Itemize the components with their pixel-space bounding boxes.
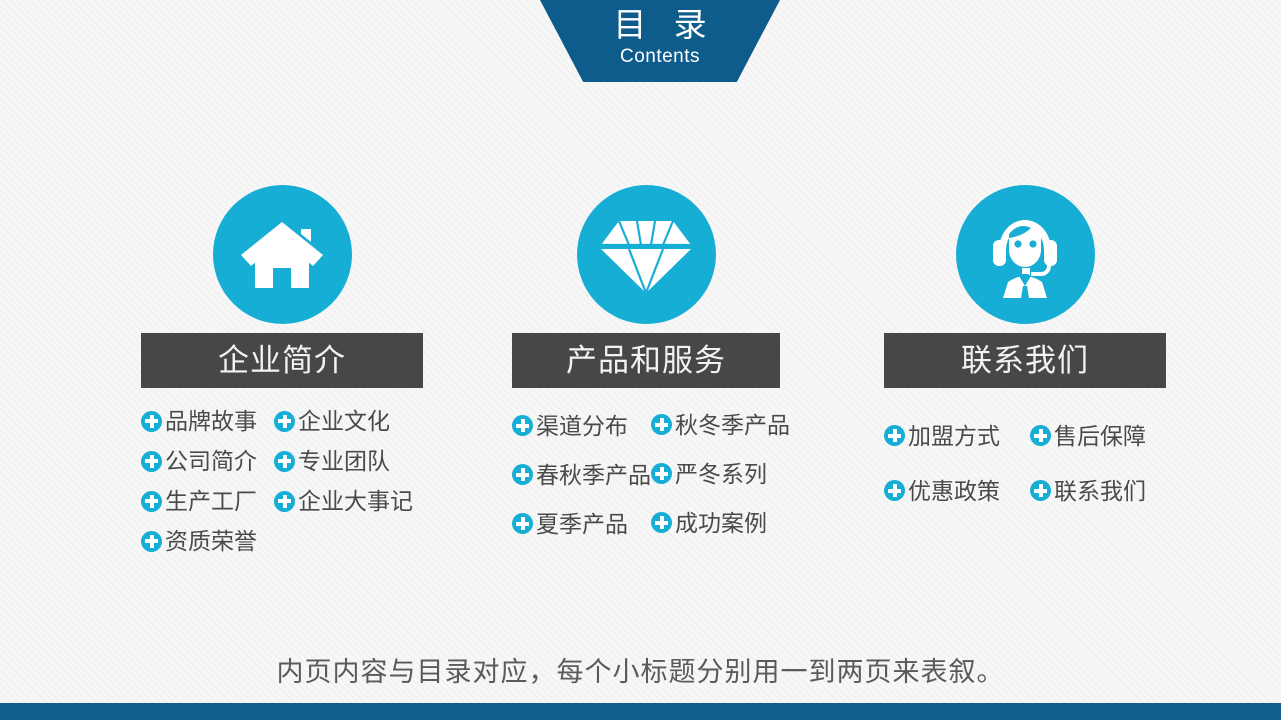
list-item[interactable]: 售后保障	[1030, 408, 1166, 463]
section-list: 渠道分布 春秋季产品 夏季产品 秋冬季产品 严冬系列	[512, 401, 780, 548]
footer-note: 内页内容与目录对应，每个小标题分别用一到两页来表叙。	[0, 655, 1281, 689]
plus-circle-icon	[274, 411, 295, 432]
list-item-label: 严冬系列	[675, 461, 767, 487]
section-title-bar: 产品和服务	[512, 333, 780, 388]
list-item-label: 企业大事记	[298, 488, 413, 514]
section-list: 加盟方式 优惠政策 售后保障 联系我们	[884, 408, 1166, 518]
list-item-label: 专业团队	[298, 448, 390, 474]
list-item[interactable]: 生产工厂	[141, 481, 274, 521]
list-item[interactable]: 渠道分布	[512, 401, 651, 450]
list-item-label: 企业文化	[298, 408, 390, 434]
section-title: 联系我们	[961, 344, 1089, 378]
list-item[interactable]: 成功案例	[651, 498, 781, 547]
list-item-label: 加盟方式	[908, 423, 1000, 449]
list-item-label: 联系我们	[1054, 478, 1146, 504]
plus-circle-icon	[512, 513, 533, 534]
list-item-label: 成功案例	[675, 510, 767, 536]
section-title-bar: 联系我们	[884, 333, 1166, 388]
plus-circle-icon	[1030, 425, 1051, 446]
list-item-label: 春秋季产品	[536, 462, 651, 488]
page-title: 目 录	[540, 5, 780, 45]
list-item[interactable]: 资质荣誉	[141, 521, 274, 561]
list-item[interactable]: 优惠政策	[884, 463, 1030, 518]
list-item-label: 夏季产品	[536, 511, 628, 537]
section-sublist-right: 企业文化 专业团队 企业大事记	[274, 401, 420, 561]
page-subtitle: Contents	[540, 45, 780, 69]
plus-circle-icon	[512, 464, 533, 485]
list-item[interactable]: 企业文化	[274, 401, 420, 441]
list-item-label: 公司简介	[165, 448, 257, 474]
plus-circle-icon	[141, 411, 162, 432]
list-item[interactable]: 联系我们	[1030, 463, 1166, 518]
list-item-label: 生产工厂	[165, 488, 257, 514]
contents-columns: 企业简介 品牌故事 公司简介 生产工厂 资质荣誉	[0, 185, 1281, 605]
plus-circle-icon	[141, 531, 162, 552]
plus-circle-icon	[1030, 480, 1051, 501]
bottom-accent-bar	[0, 703, 1281, 720]
section-sublist-left: 渠道分布 春秋季产品 夏季产品	[512, 401, 651, 548]
list-item-label: 优惠政策	[908, 478, 1000, 504]
section-sublist-left: 品牌故事 公司简介 生产工厂 资质荣誉	[141, 401, 274, 561]
contents-header-banner: 目 录 Contents	[540, 0, 780, 82]
list-item-label: 品牌故事	[165, 408, 257, 434]
plus-circle-icon	[884, 425, 905, 446]
diamond-icon	[577, 185, 716, 324]
content-section-company-profile: 企业简介 品牌故事 公司简介 生产工厂 资质荣誉	[141, 185, 423, 561]
section-title: 企业简介	[218, 344, 346, 378]
section-sublist-right: 售后保障 联系我们	[1030, 408, 1166, 518]
section-sublist-right: 秋冬季产品 严冬系列 成功案例	[651, 400, 781, 548]
plus-circle-icon	[884, 480, 905, 501]
list-item[interactable]: 加盟方式	[884, 408, 1030, 463]
list-item[interactable]: 夏季产品	[512, 499, 651, 548]
section-title: 产品和服务	[566, 344, 726, 378]
section-title-bar: 企业简介	[141, 333, 423, 388]
plus-circle-icon	[274, 491, 295, 512]
plus-circle-icon	[651, 512, 672, 533]
list-item[interactable]: 品牌故事	[141, 401, 274, 441]
list-item[interactable]: 春秋季产品	[512, 450, 651, 499]
plus-circle-icon	[141, 451, 162, 472]
list-item-label: 资质荣誉	[165, 528, 257, 554]
headset-support-icon	[956, 185, 1095, 324]
list-item-label: 售后保障	[1054, 423, 1146, 449]
plus-circle-icon	[274, 451, 295, 472]
list-item[interactable]: 严冬系列	[651, 449, 781, 498]
content-section-products-services: 产品和服务 渠道分布 春秋季产品 夏季产品	[512, 185, 780, 548]
plus-circle-icon	[651, 414, 672, 435]
list-item-label: 秋冬季产品	[675, 412, 790, 438]
section-list: 品牌故事 公司简介 生产工厂 资质荣誉 企业文化	[141, 401, 423, 561]
plus-circle-icon	[651, 463, 672, 484]
home-icon	[213, 185, 352, 324]
content-section-contact-us: 联系我们 加盟方式 优惠政策 售后保障 联系	[884, 185, 1166, 518]
section-sublist-left: 加盟方式 优惠政策	[884, 408, 1030, 518]
list-item[interactable]: 公司简介	[141, 441, 274, 481]
list-item[interactable]: 专业团队	[274, 441, 420, 481]
plus-circle-icon	[512, 415, 533, 436]
plus-circle-icon	[141, 491, 162, 512]
list-item-label: 渠道分布	[536, 413, 628, 439]
list-item[interactable]: 企业大事记	[274, 481, 420, 521]
list-item[interactable]: 秋冬季产品	[651, 400, 781, 449]
